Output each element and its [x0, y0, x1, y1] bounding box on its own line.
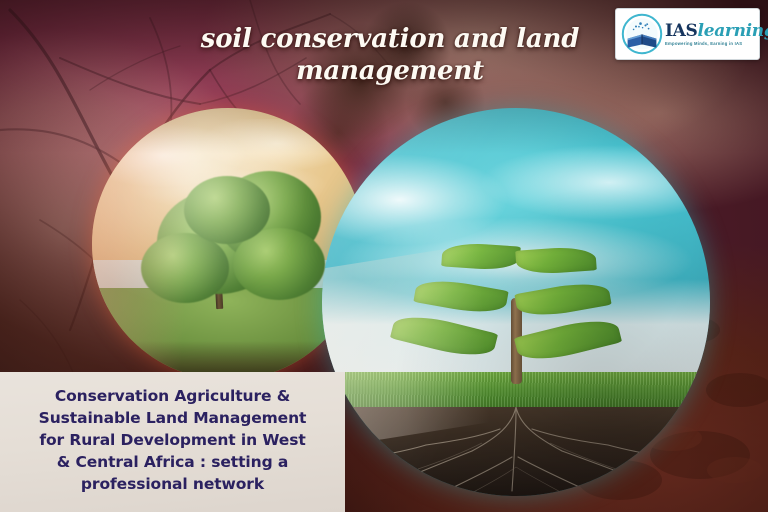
logo-text-block: IASlearning Empowering Minds, Earning in… — [663, 22, 768, 46]
caption-panel: Conservation Agriculture &Sustainable La… — [0, 372, 345, 512]
brand-logo[interactable]: IASlearning Empowering Minds, Earning in… — [615, 8, 760, 60]
open-book-icon — [621, 13, 663, 55]
poster-title: soil conservation and landmanagement — [160, 24, 620, 87]
logo-wordmark-primary: IAS — [665, 21, 698, 41]
logo-wordmark-secondary: learning — [698, 21, 768, 41]
logo-wordmark: IASlearning — [665, 22, 768, 40]
caption-text: Conservation Agriculture &Sustainable La… — [39, 385, 307, 495]
poster-canvas: soil conservation and landmanagement — [0, 0, 768, 512]
logo-tagline: Empowering Minds, Earning in IAS — [665, 42, 768, 46]
